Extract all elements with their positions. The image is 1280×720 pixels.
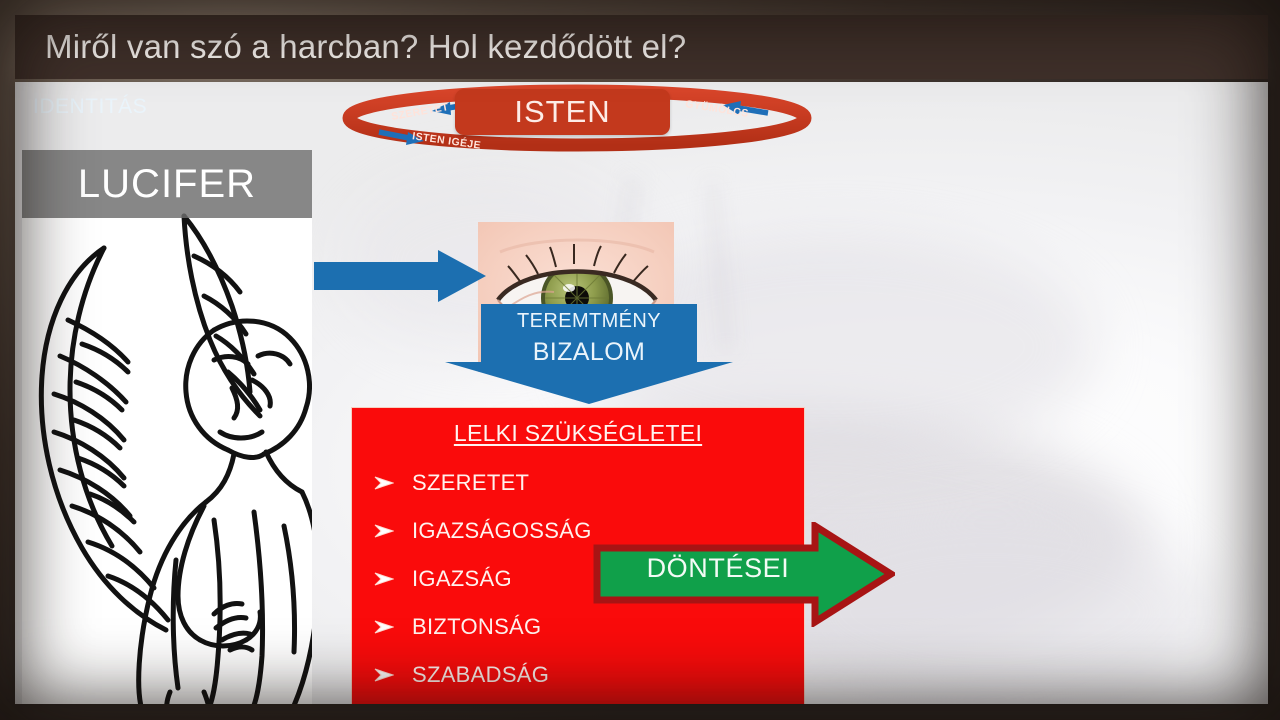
need-label: IGAZSÁGOSSÁG — [400, 518, 592, 544]
arrow-bullet-icon — [374, 668, 400, 682]
needs-box-title: LELKI SZÜKSÉGLETEI — [352, 420, 804, 447]
need-label: BIZTONSÁG — [400, 614, 541, 640]
identitas-arrow — [314, 250, 486, 302]
arrow-bullet-icon — [374, 476, 400, 490]
identitas-label: IDENTITÁS — [33, 95, 147, 119]
lucifer-label: LUCIFER — [78, 162, 256, 207]
teremtmeny-bizalom-label-group: TEREMTMÉNY BIZALOM — [445, 310, 733, 367]
arrow-bullet-icon — [374, 572, 400, 586]
arrow-bullet-icon — [374, 620, 400, 634]
lucifer-label-box: LUCIFER — [22, 150, 312, 218]
isten-label: ISTEN — [514, 94, 610, 130]
page-title: Miről van szó a harcban? Hol kezdődött e… — [15, 28, 686, 66]
angel-line-drawing-icon — [22, 150, 312, 704]
presentation-stage: Miről van szó a harcban? Hol kezdődött e… — [0, 0, 1280, 720]
list-item: SZERETET — [374, 459, 804, 507]
list-item: ÖSSZHANG — [374, 699, 804, 704]
need-label: SZERETET — [400, 470, 529, 496]
bizalom-label: BIZALOM — [445, 338, 733, 368]
need-label: SZABADSÁG — [400, 662, 549, 688]
slide-title-bar: Miről van szó a harcban? Hol kezdődött e… — [15, 15, 1268, 79]
teremtmeny-label: TEREMTMÉNY — [445, 310, 733, 334]
list-item: SZABADSÁG — [374, 651, 804, 699]
arrow-right-icon — [314, 250, 486, 302]
isten-box: ISTEN — [455, 89, 670, 135]
slide-canvas: LUCIFER — [15, 82, 1268, 704]
need-label: IGAZSÁG — [400, 566, 512, 592]
lucifer-image-panel — [22, 150, 312, 704]
arrow-bullet-icon — [374, 524, 400, 538]
dontesei-label: DÖNTÉSEI — [593, 553, 843, 584]
